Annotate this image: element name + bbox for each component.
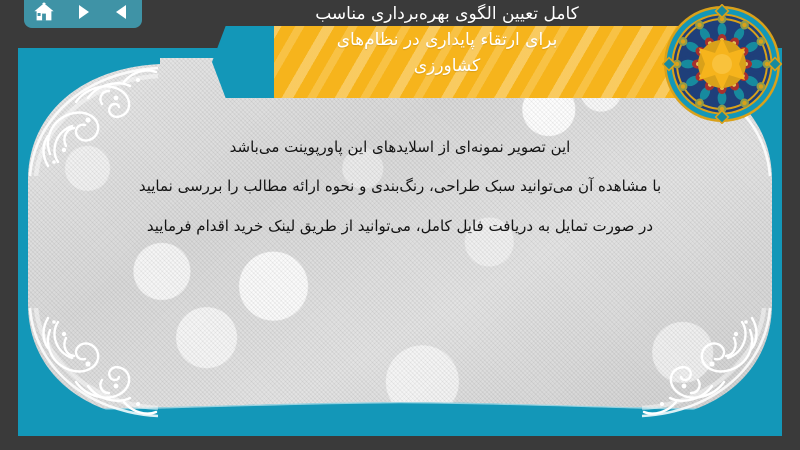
triangle-left-icon <box>113 3 131 21</box>
title-banner <box>270 26 732 98</box>
slide-frame <box>18 48 782 436</box>
triangle-right-icon <box>74 3 92 21</box>
slide-title-line-1: کامل تعیین الگوی بهره‌برداری مناسب <box>232 2 662 28</box>
home-button[interactable] <box>29 0 59 24</box>
navigation-bar <box>24 0 142 28</box>
slide-stage: کامل تعیین الگوی بهره‌برداری مناسب برای … <box>0 0 800 450</box>
home-icon <box>33 2 55 22</box>
next-slide-button[interactable] <box>68 0 98 24</box>
prev-slide-button[interactable] <box>107 0 137 24</box>
slide-content-panel <box>28 58 772 426</box>
